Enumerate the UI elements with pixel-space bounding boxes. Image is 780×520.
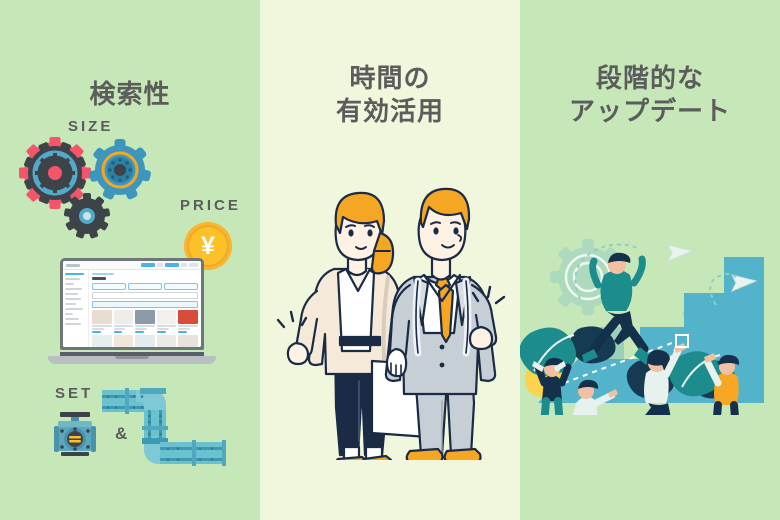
panel-title-stepwise-update: 段階的な アップデート [520,62,780,129]
mini-toolbar-button [165,263,179,267]
mini-toolbar-button [141,263,155,267]
mini-toolbar-button [181,263,187,267]
people-climbing-steps-illustration [520,235,780,415]
mini-toolbar-button [189,263,198,267]
laptop-base [48,356,216,364]
caption-set: SET [55,385,93,402]
laptop-lid [60,258,204,350]
laptop-catalog-icon [48,258,216,368]
valve-flange-icon [48,408,102,462]
mini-logo [66,264,80,267]
panel-title-searchability: 検索性 [0,78,260,111]
three-panel-feature-board: 検索性 SIZE PRICE SET & [0,0,780,520]
pipe-assembly-icon [100,382,230,474]
gear-dark-icon [63,192,111,240]
caption-price: PRICE [180,197,241,214]
panel-searchability: 検索性 SIZE PRICE SET & [0,0,260,520]
mini-toolbar-button [157,263,163,267]
business-couple-illustration [260,185,520,460]
panel-title-time-utilization: 時間の 有効活用 [260,62,520,129]
mini-browser-toolbar [63,261,201,270]
mini-sidebar [63,270,89,347]
mini-catalog-area [89,270,201,347]
panel-stepwise-update: 段階的な アップデート [520,0,780,520]
laptop-screen [63,261,201,347]
panel-time-utilization: 時間の 有効活用 [260,0,520,520]
caption-size: SIZE [68,118,113,135]
